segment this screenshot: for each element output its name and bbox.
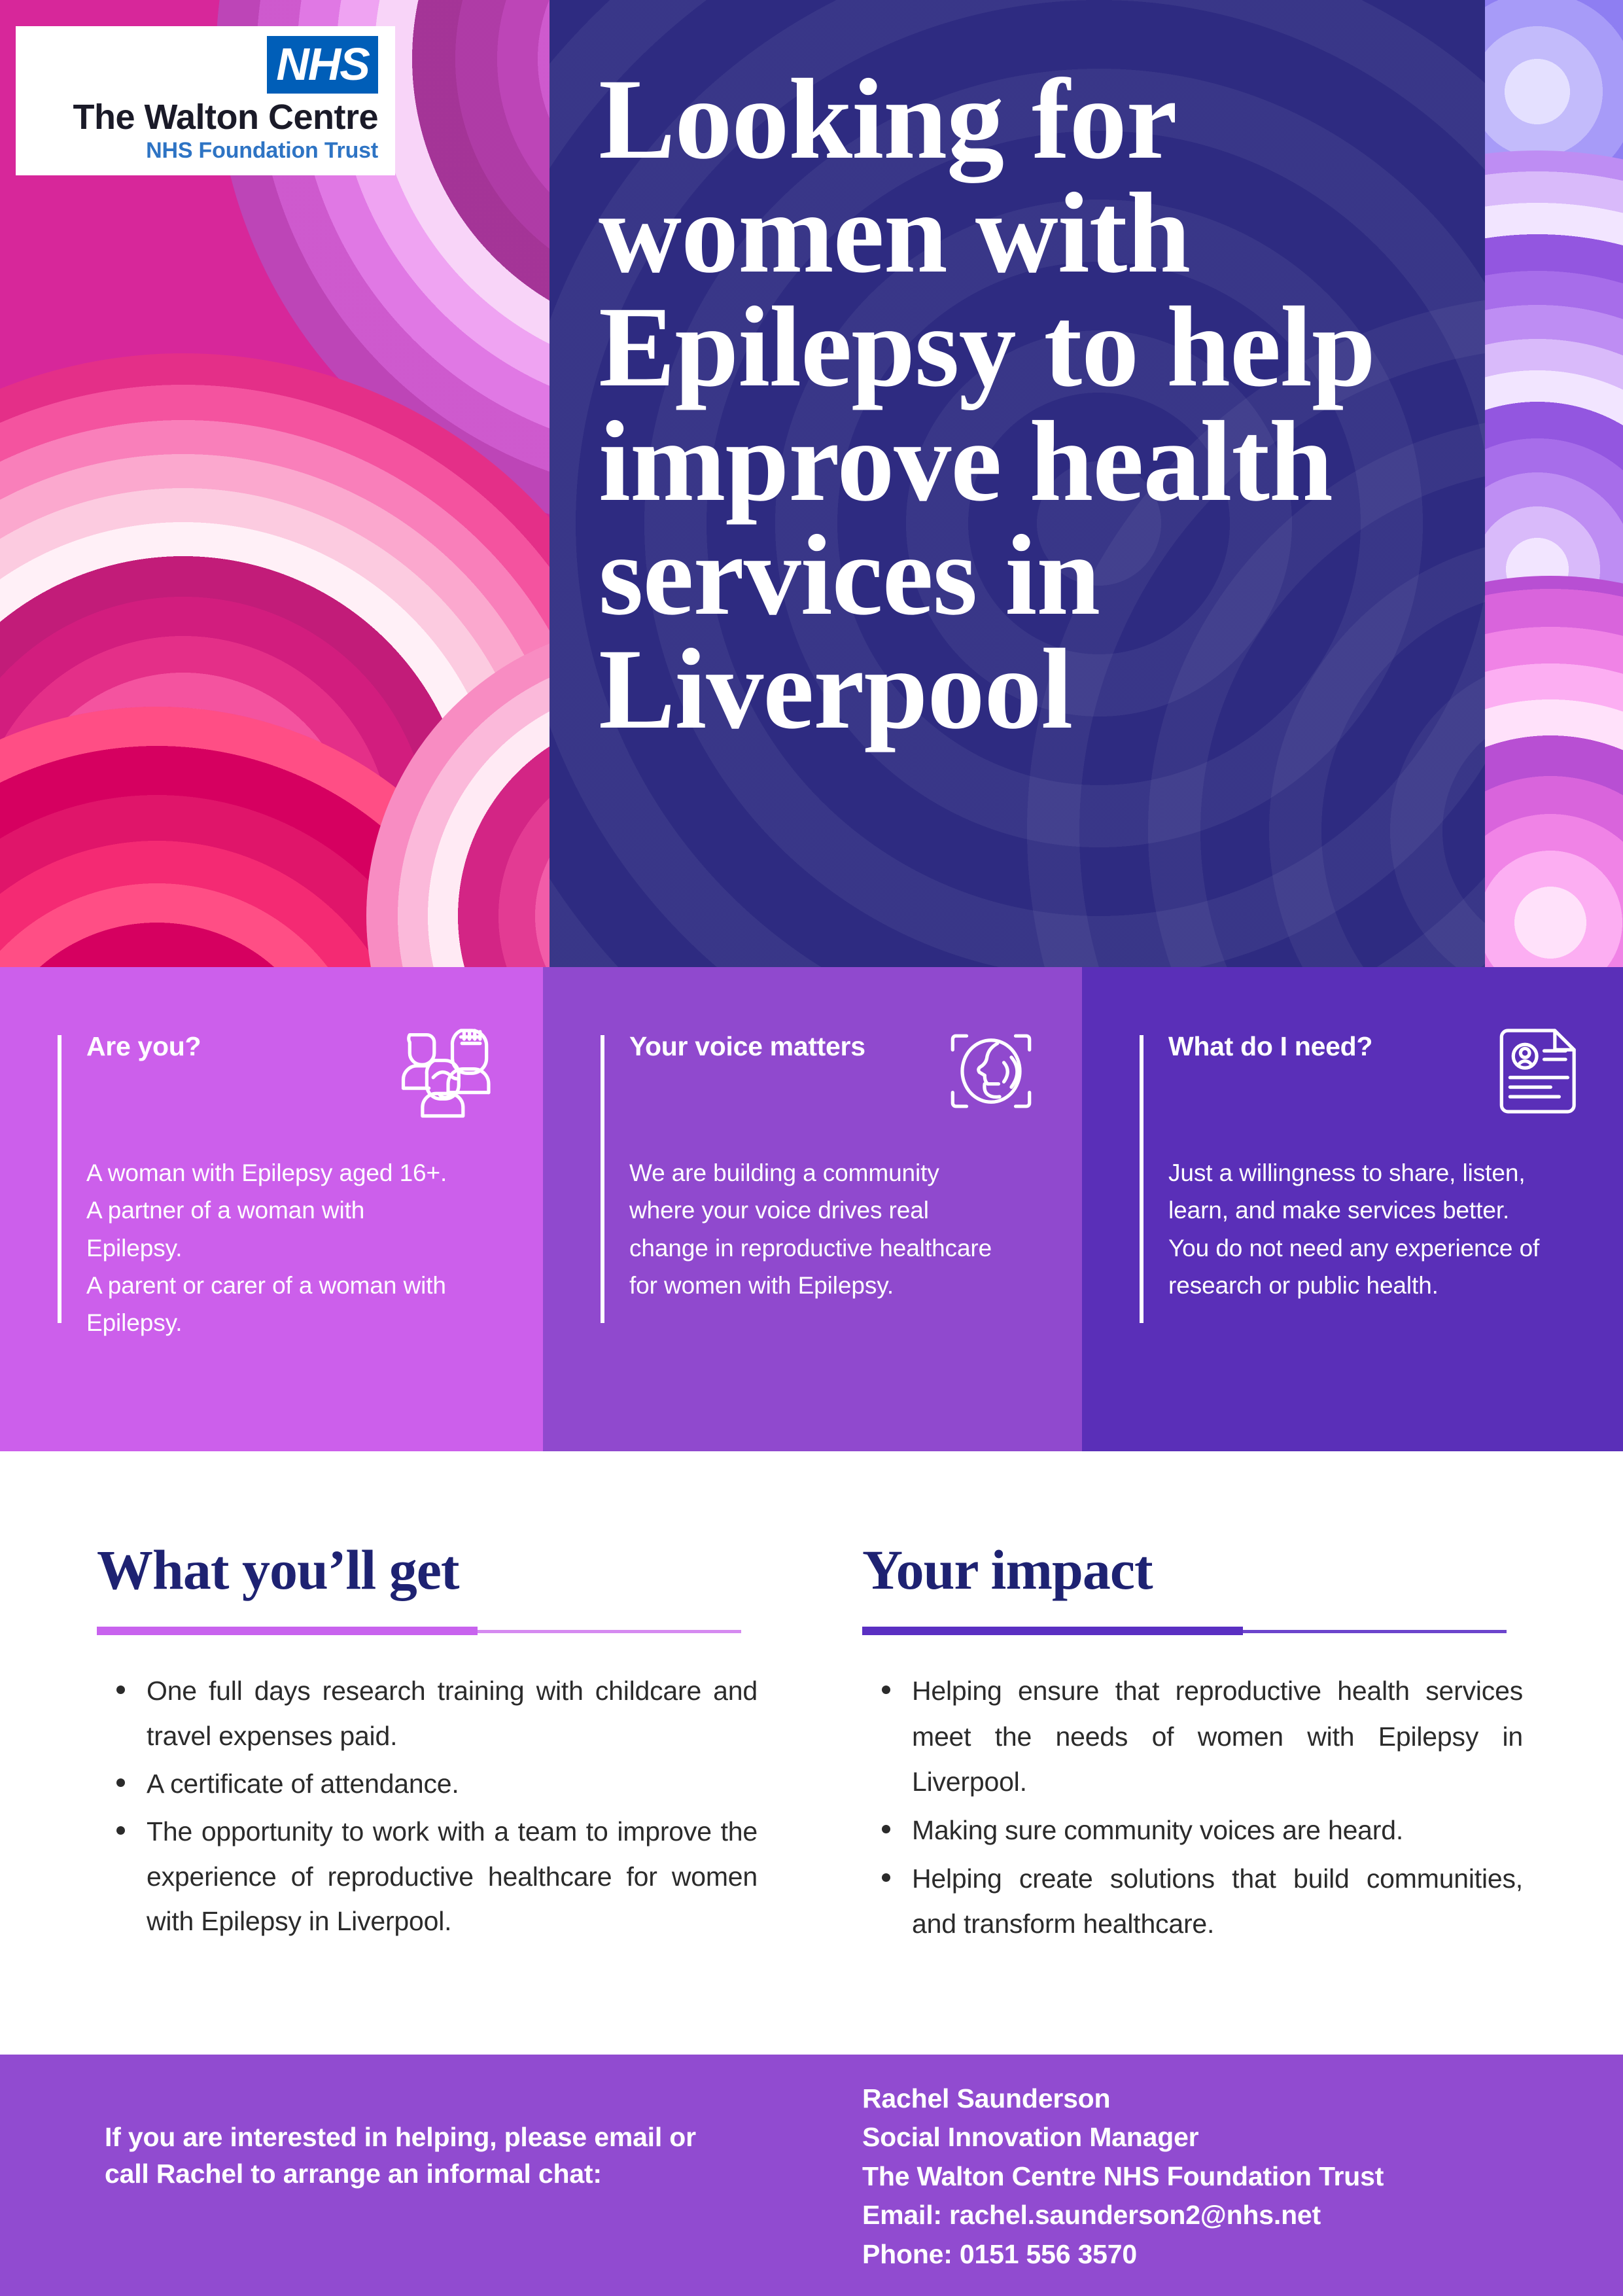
decorative-rings-orchid [1485,576,1623,967]
section-your-impact: Your impact Helping ensure that reproduc… [862,1451,1523,1950]
list-item: Making sure community voices are heard. [862,1808,1523,1854]
trust-subtitle: NHS Foundation Trust [146,139,378,163]
underline-thin [1243,1630,1507,1633]
nhs-logo-icon: NHS [267,36,378,94]
hero-violet-pattern [1485,0,1623,967]
contact-details: Rachel Saunderson Social Innovation Mana… [862,2079,1556,2274]
group-of-people-icon [393,1022,504,1120]
list-item: A certificate of attendance. [97,1761,758,1807]
profile-document-icon [1484,1022,1596,1120]
trust-name: The Walton Centre [73,99,378,136]
list-item: Helping create solutions that build comm… [862,1856,1523,1947]
column-body: A woman with Epilepsy aged 16+. A partne… [86,1154,466,1342]
info-column-your-voice: Your voice matters We are building a com… [543,967,1082,1451]
contact-footer: If you are interested in helping, please… [0,2055,1623,2296]
underline-thick [862,1627,1243,1635]
list-item: One full days research training with chi… [97,1669,758,1759]
column-heading: Are you? [86,1030,368,1063]
section-heading: Your impact [862,1542,1523,1598]
call-to-action-text: If you are interested in helping, please… [105,2119,733,2192]
section-underline [862,1625,1507,1637]
list-item: The opportunity to work with a team to i… [97,1809,758,1945]
section-what-youll-get: What you’ll get One full days research t… [97,1451,758,1947]
column-rule [601,1035,604,1323]
nhs-trust-logo: NHS The Walton Centre NHS Foundation Tru… [16,26,395,175]
column-body-line: We are building a community where your v… [629,1159,992,1299]
info-columns-band: Are you? A woman with Epilepsy aged 16+.… [0,967,1623,1451]
column-body-line: A woman with Epilepsy aged 16+. A partne… [86,1159,447,1336]
section-underline [97,1625,741,1637]
column-heading: Your voice matters [629,1030,911,1063]
page-title: Looking for women with Epilepsy to help … [599,63,1469,747]
contact-organisation: The Walton Centre NHS Foundation Trust [862,2157,1556,2196]
contact-email[interactable]: Email: rachel.saunderson2@nhs.net [862,2196,1556,2234]
speaking-face-scan-icon [935,1022,1047,1120]
contact-name: Rachel Saunderson [862,2079,1556,2118]
contact-phone[interactable]: Phone: 0151 556 3570 [862,2235,1556,2274]
hero-banner: NHS The Walton Centre NHS Foundation Tru… [0,0,1623,967]
info-column-are-you: Are you? A woman with Epilepsy aged 16+.… [0,967,543,1451]
column-heading: What do I need? [1168,1030,1450,1063]
column-body-line: Just a willingness to share, listen, lea… [1168,1159,1539,1299]
column-rule [58,1035,61,1323]
info-column-what-do-i-need: What do I need? Just a willingness to sh… [1082,967,1623,1451]
column-rule [1140,1035,1143,1323]
underline-thin [478,1630,741,1633]
contact-role: Social Innovation Manager [862,2118,1556,2157]
benefits-list: One full days research training with chi… [97,1669,758,1944]
main-content: What you’ll get One full days research t… [0,1451,1623,2055]
section-heading: What you’ll get [97,1542,758,1598]
column-body: Just a willingness to share, listen, lea… [1168,1154,1548,1304]
underline-thick [97,1627,478,1635]
list-item: Helping ensure that reproductive health … [862,1669,1523,1805]
impact-list: Helping ensure that reproductive health … [862,1669,1523,1947]
column-body: We are building a community where your v… [629,1154,1009,1304]
